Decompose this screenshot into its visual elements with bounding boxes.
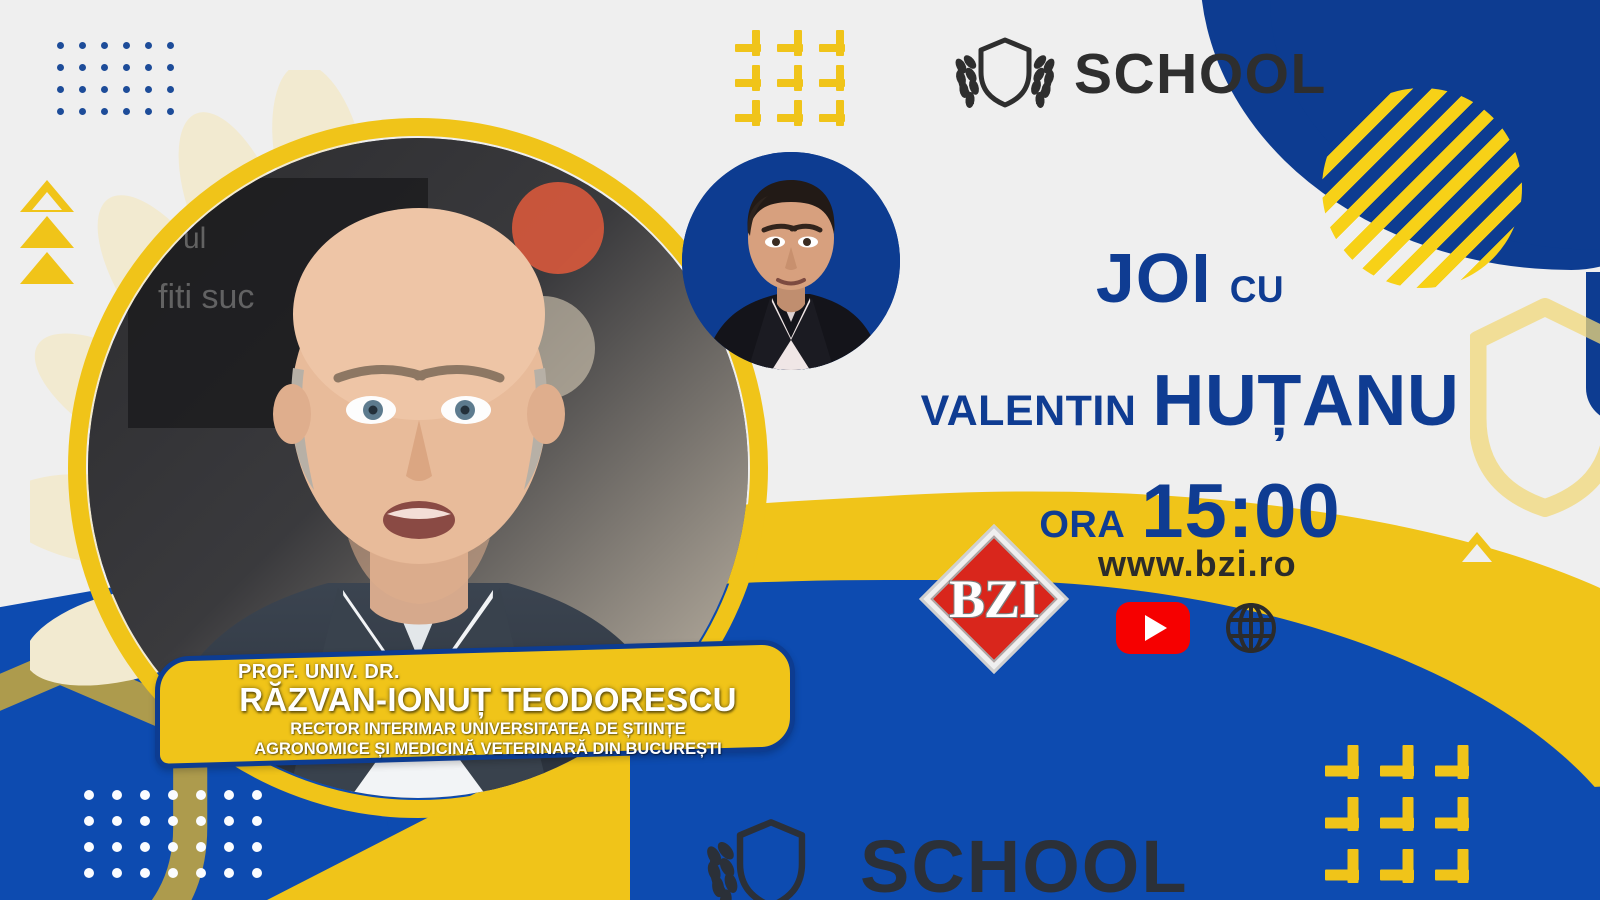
guest-affiliation-line2: AGRONOMICE ȘI MEDICINĂ VETERINARĂ DIN BU… [200,741,776,759]
host-avatar [682,152,900,370]
host-last-name: HUȚANU [1152,361,1459,441]
svg-text:fiti suc: fiti suc [158,278,254,316]
social-links [1116,601,1278,655]
school-logo-watermark: SCHOOL [700,812,1189,900]
play-triangle-icon [1145,615,1167,641]
yellow-plus-grid-decor-bottom [1325,745,1490,900]
bzi-logo[interactable]: BZI [930,535,1058,663]
host-first-name: VALENTIN [921,387,1137,435]
bzi-logo-text: BZI [930,535,1058,663]
right-edge-blue-nub [1586,272,1600,422]
show-with-label: CU [1230,269,1284,310]
shield-laurel-icon [700,812,842,900]
show-host-line: VALENTINHUȚANU [880,360,1500,442]
globe-icon[interactable] [1224,601,1278,655]
school-logo: SCHOOL [950,32,1327,116]
website-url[interactable]: www.bzi.ro [1098,543,1297,585]
show-day-line: JOICU [880,238,1500,318]
school-watermark-text: SCHOOL [860,824,1189,900]
website-column: www.bzi.ro [1098,543,1297,655]
show-info: JOICU VALENTINHUȚANU ORA15:00 [880,238,1500,555]
school-logo-text: SCHOOL [1074,41,1327,107]
guest-affiliation-line1: RECTOR INTERIMAR UNIVERSITATEA DE ȘTIINȚ… [200,721,776,739]
broadcast-promo-card: ul fiti suc [0,0,1600,900]
youtube-icon[interactable] [1116,602,1190,654]
bzi-contact-row: BZI www.bzi.ro [930,535,1297,663]
show-day: JOI [1096,239,1212,317]
guest-name: RĂZVAN-IONUȚ TEODORESCU [200,681,776,719]
guest-nameplate: PROF. UNIV. DR. RĂZVAN-IONUȚ TEODORESCU … [155,639,795,769]
shield-laurel-icon [950,32,1060,116]
